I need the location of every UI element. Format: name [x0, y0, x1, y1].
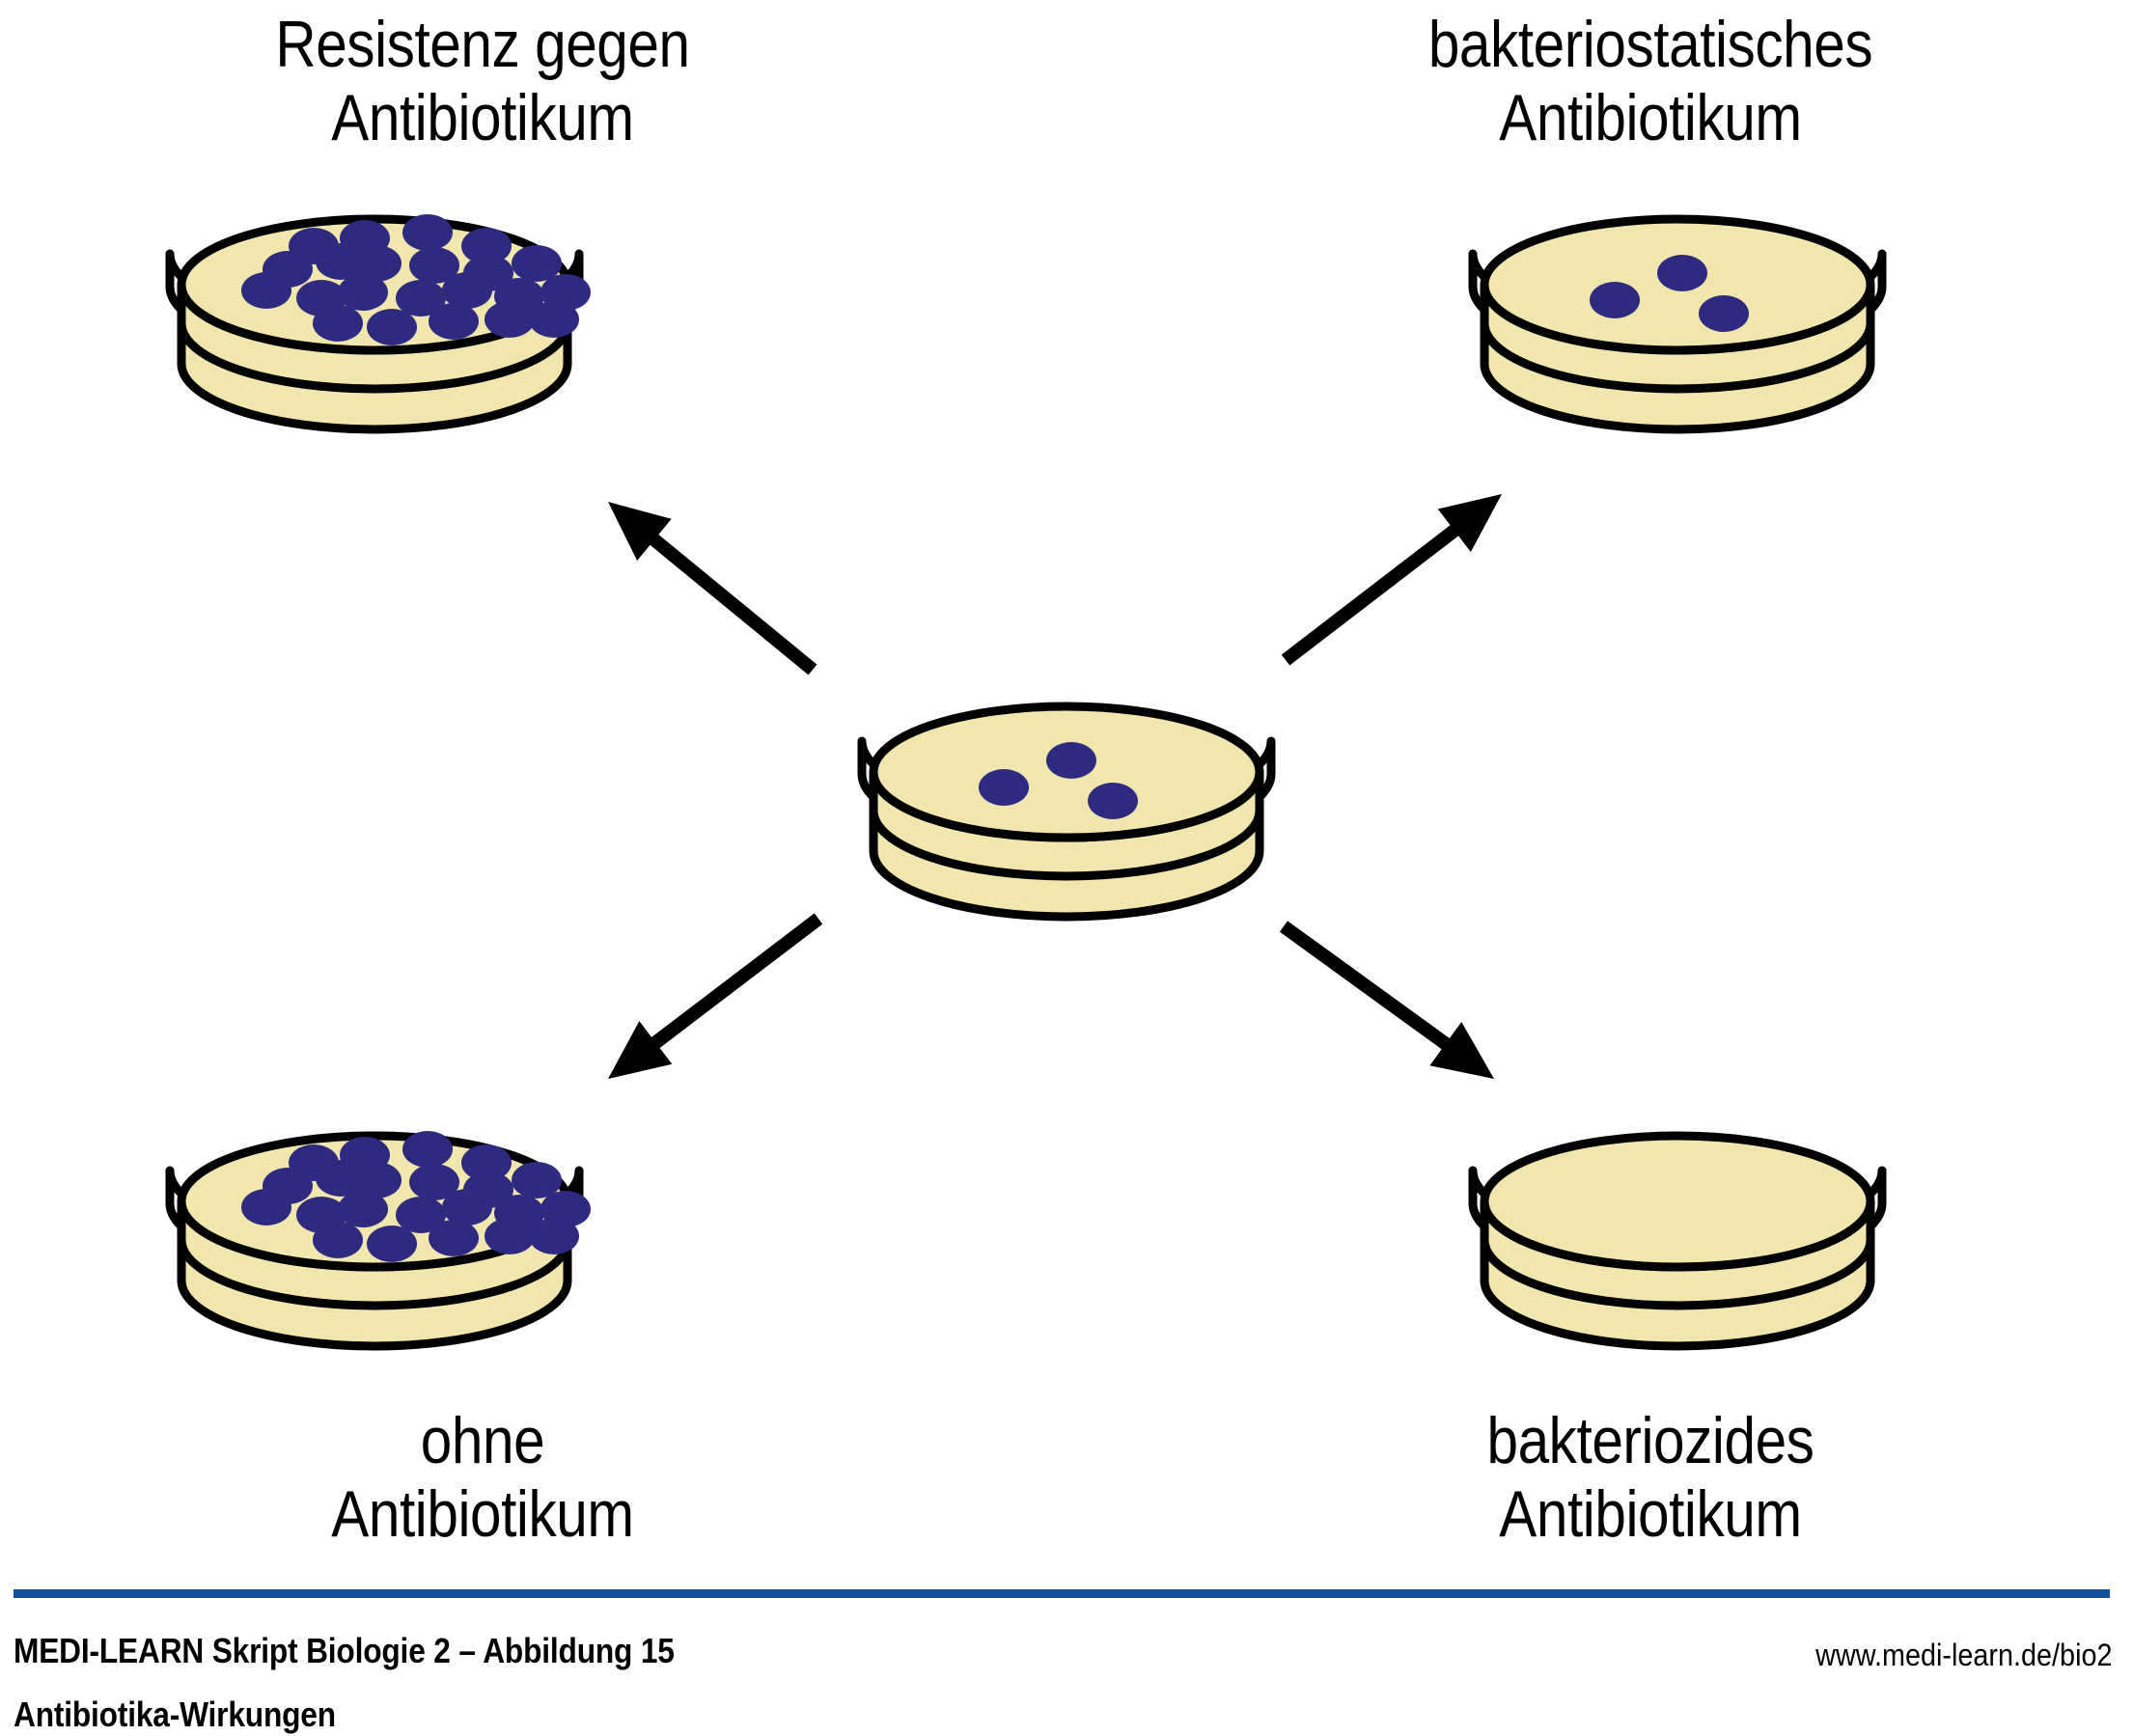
arrow-to-top-left	[608, 502, 813, 670]
caption-bakteriozides-antibiotikum: bakteriozides Antibiotikum	[1235, 1404, 2065, 1551]
petri-dish-center[interactable]	[862, 706, 1271, 917]
colony	[529, 1218, 579, 1254]
colony	[313, 305, 363, 342]
footer-website-url[interactable]: www.medi-learn.de/bio2	[1815, 1638, 2112, 1673]
arrow-to-bottom-left	[608, 919, 818, 1079]
colony	[313, 1222, 363, 1258]
caption-ohne-antibiotikum: ohne Antibiotikum	[68, 1404, 898, 1551]
arrow-to-bottom-right	[1284, 926, 1494, 1079]
arrow-to-bottom-right-head	[1429, 1022, 1494, 1079]
petri-dish-top-left[interactable]	[170, 214, 591, 429]
footer-source-line: MEDI-LEARN Skript Biologie 2 – Abbildung…	[14, 1631, 675, 1671]
petri-dish-top-right[interactable]	[1473, 219, 1882, 429]
colony	[367, 309, 417, 345]
petri-dish-bottom-left[interactable]	[170, 1131, 591, 1346]
colony	[485, 301, 535, 338]
colony	[429, 303, 479, 340]
colony	[402, 214, 453, 251]
figure-canvas: Resistenz gegen Antibiotikum bakteriosta…	[0, 0, 2133, 1736]
agar-surface-bottom-right	[1484, 1136, 1870, 1267]
colony	[1046, 742, 1096, 779]
colony	[338, 274, 388, 311]
arrow-to-bottom-right-shaft	[1284, 926, 1454, 1049]
colony	[1590, 282, 1640, 318]
petri-dish-bottom-right[interactable]	[1473, 1136, 1882, 1346]
colony	[402, 1131, 453, 1168]
colony	[485, 1218, 535, 1254]
colony	[338, 1191, 388, 1227]
colony	[367, 1226, 417, 1262]
arrow-to-bottom-left-shaft	[648, 919, 818, 1048]
caption-bakteriostatisches-antibiotikum: bakteriostatisches Antibiotikum	[1235, 8, 2065, 154]
arrow-to-top-right-shaft	[1286, 525, 1462, 660]
footer-figure-title: Antibiotika-Wirkungen	[14, 1695, 336, 1735]
footer-divider-rule	[14, 1589, 2110, 1598]
colony	[979, 769, 1029, 806]
arrow-to-top-right	[1286, 494, 1502, 660]
colony	[1657, 255, 1707, 291]
colony	[241, 1189, 291, 1226]
colony	[241, 272, 291, 309]
colony	[1088, 783, 1138, 819]
colony	[429, 1220, 479, 1256]
caption-resistenz-gegen-antibiotikum: Resistenz gegen Antibiotikum	[68, 8, 898, 154]
colony	[529, 301, 579, 338]
arrow-to-top-left-shaft	[647, 534, 813, 670]
colony	[1699, 295, 1749, 332]
